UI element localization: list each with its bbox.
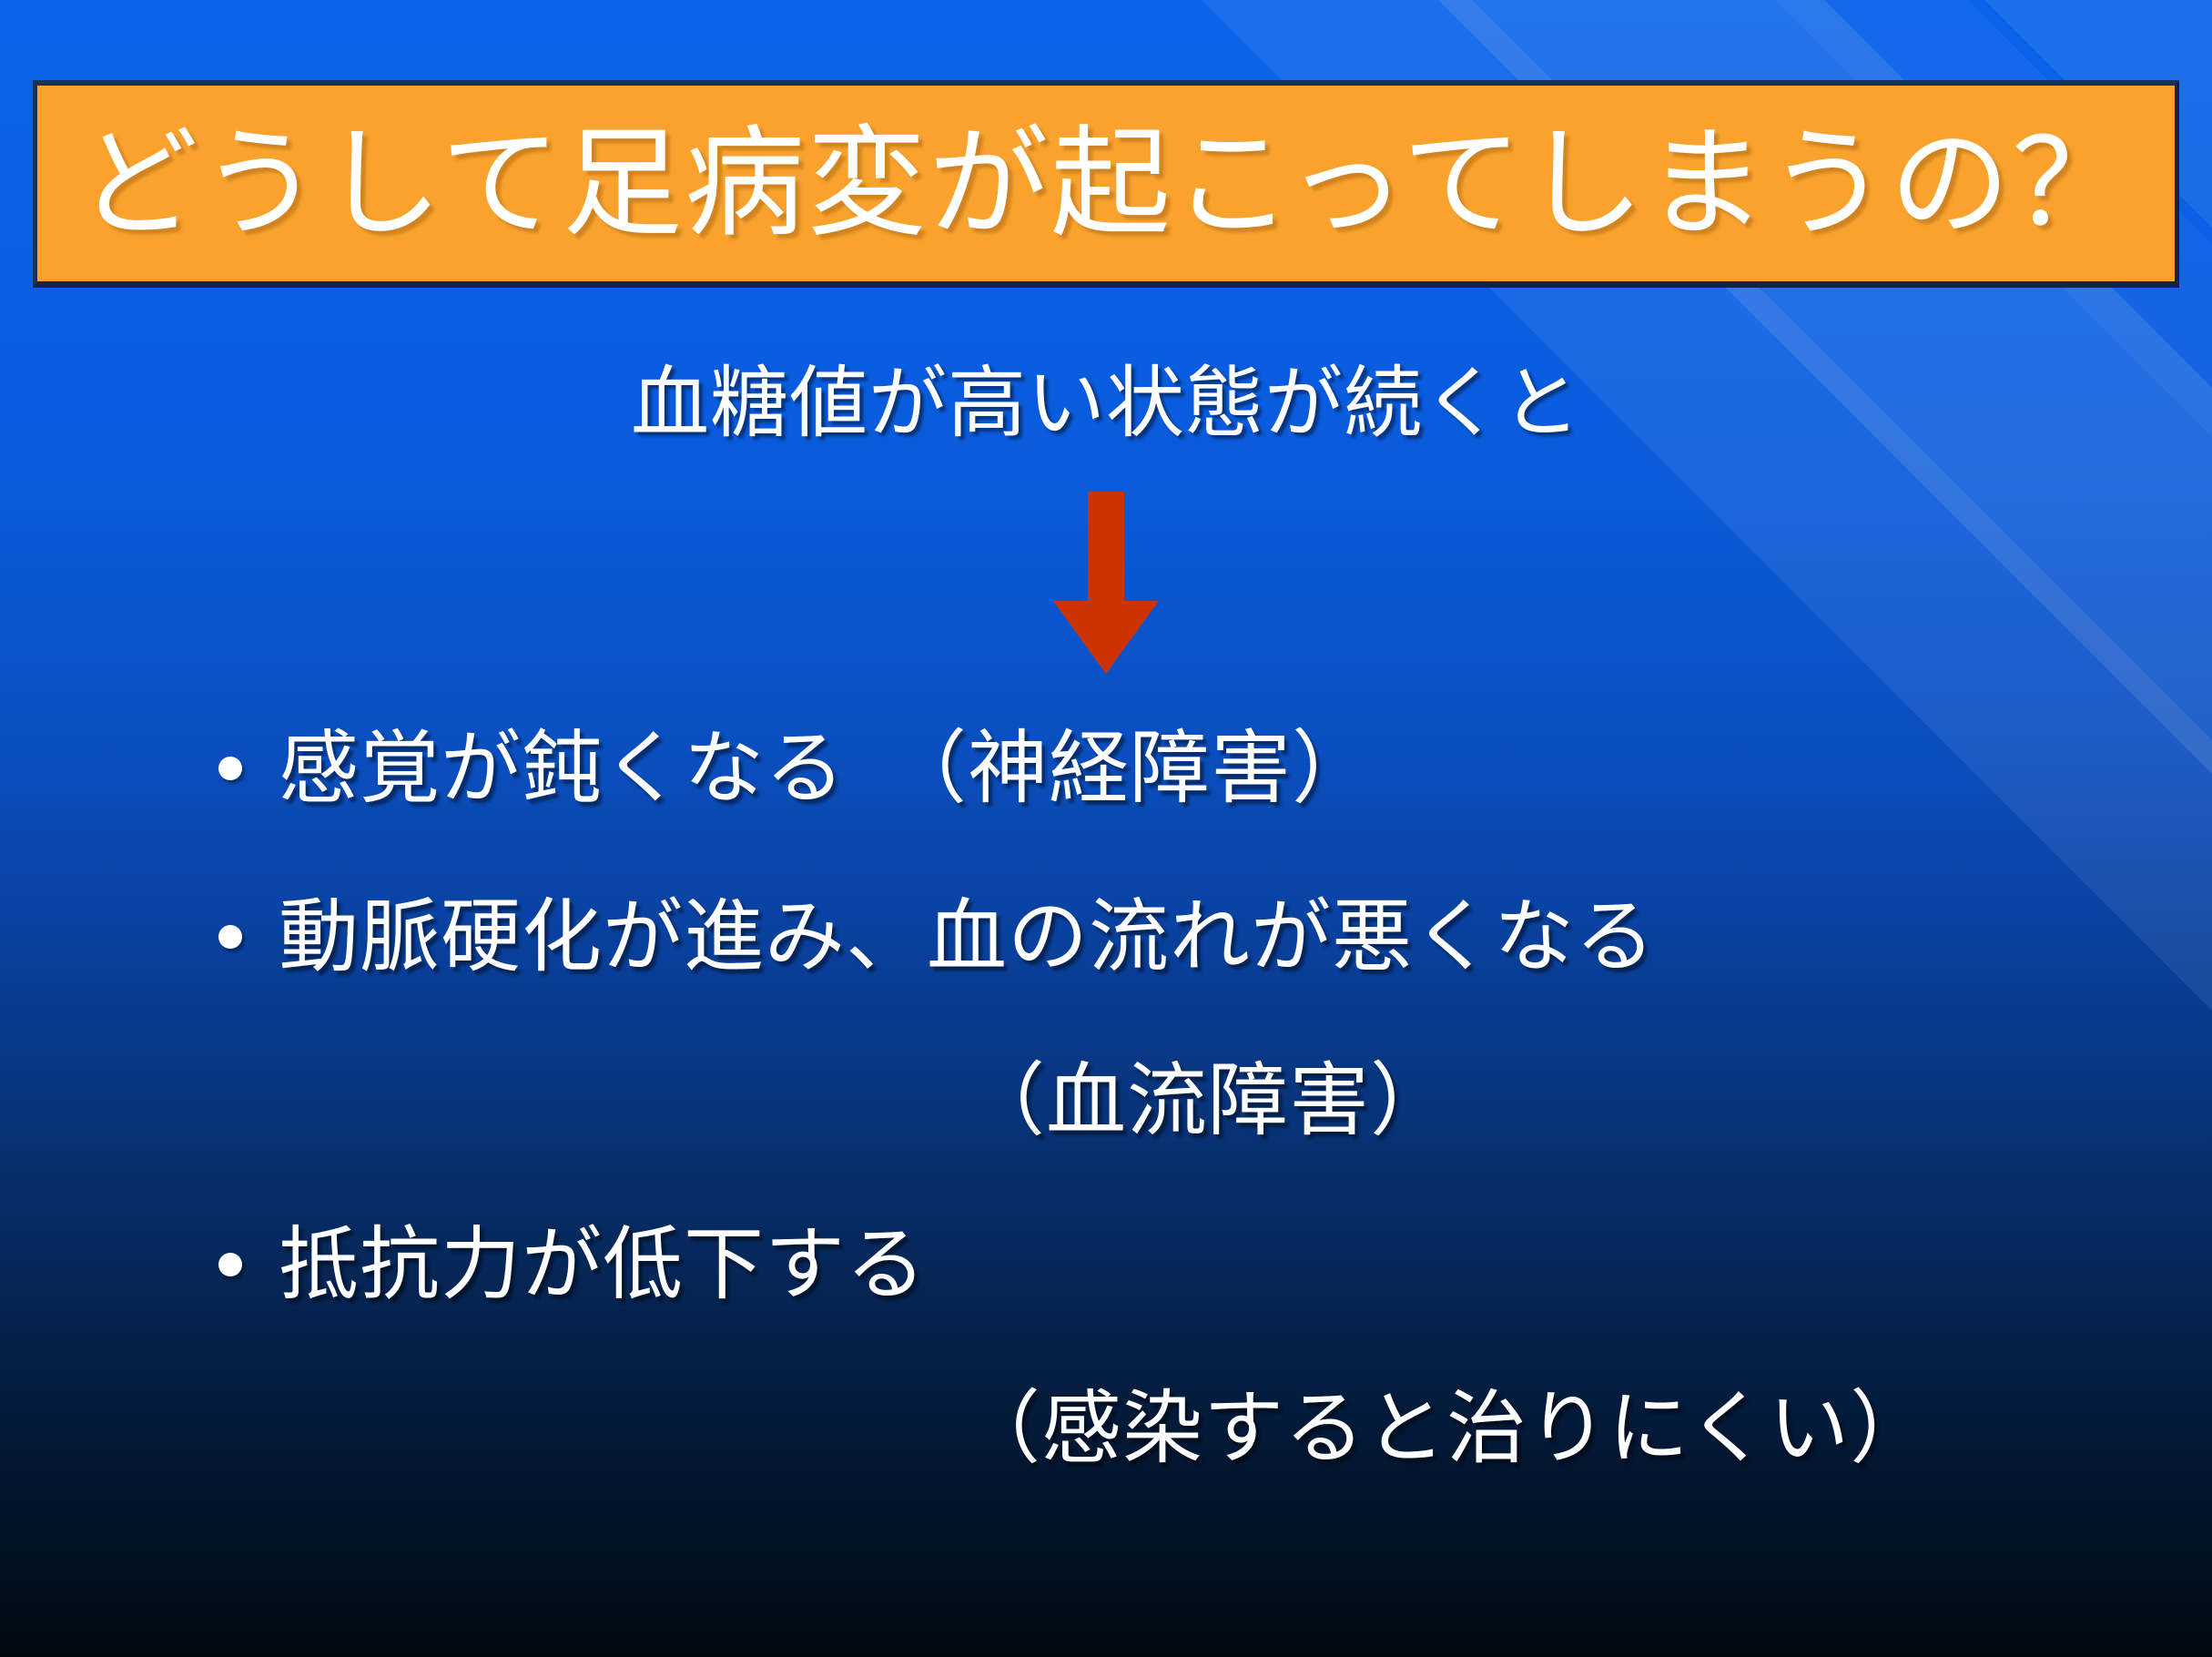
bullet-item-2: 動脈硬化が進み、血の流れが悪くなる <box>218 897 1656 977</box>
bullet-label-3: 抵抗力が低下する <box>279 1225 927 1305</box>
bullet-label-2: 動脈硬化が進み、血の流れが悪くなる <box>279 897 1656 977</box>
bullet-item-1: 感覚が鈍くなる （神経障害） <box>218 728 1373 808</box>
down-arrow-icon <box>1051 492 1161 674</box>
bullet-subline-1: （血流障害） <box>965 1061 1451 1141</box>
bullet-dot-icon <box>218 757 242 780</box>
bullet-item-3: 抵抗力が低下する <box>218 1225 927 1305</box>
slide-canvas: どうして足病変が起こってしまうの？ 血糖値が高い状態が続くと 感覚が鈍くなる （… <box>0 0 2212 1657</box>
page-title: どうして足病変が起こってしまうの？ <box>78 124 2134 244</box>
bullet-dot-icon <box>218 925 242 949</box>
bullet-subline-2: （感染すると治りにくい） <box>960 1388 1931 1469</box>
subtitle-text: 血糖値が高い状態が続くと <box>0 364 2212 442</box>
title-band: どうして足病変が起こってしまうの？ <box>33 80 2179 288</box>
bullet-label-1: 感覚が鈍くなる （神経障害） <box>279 728 1373 808</box>
bullet-dot-icon <box>218 1253 242 1276</box>
